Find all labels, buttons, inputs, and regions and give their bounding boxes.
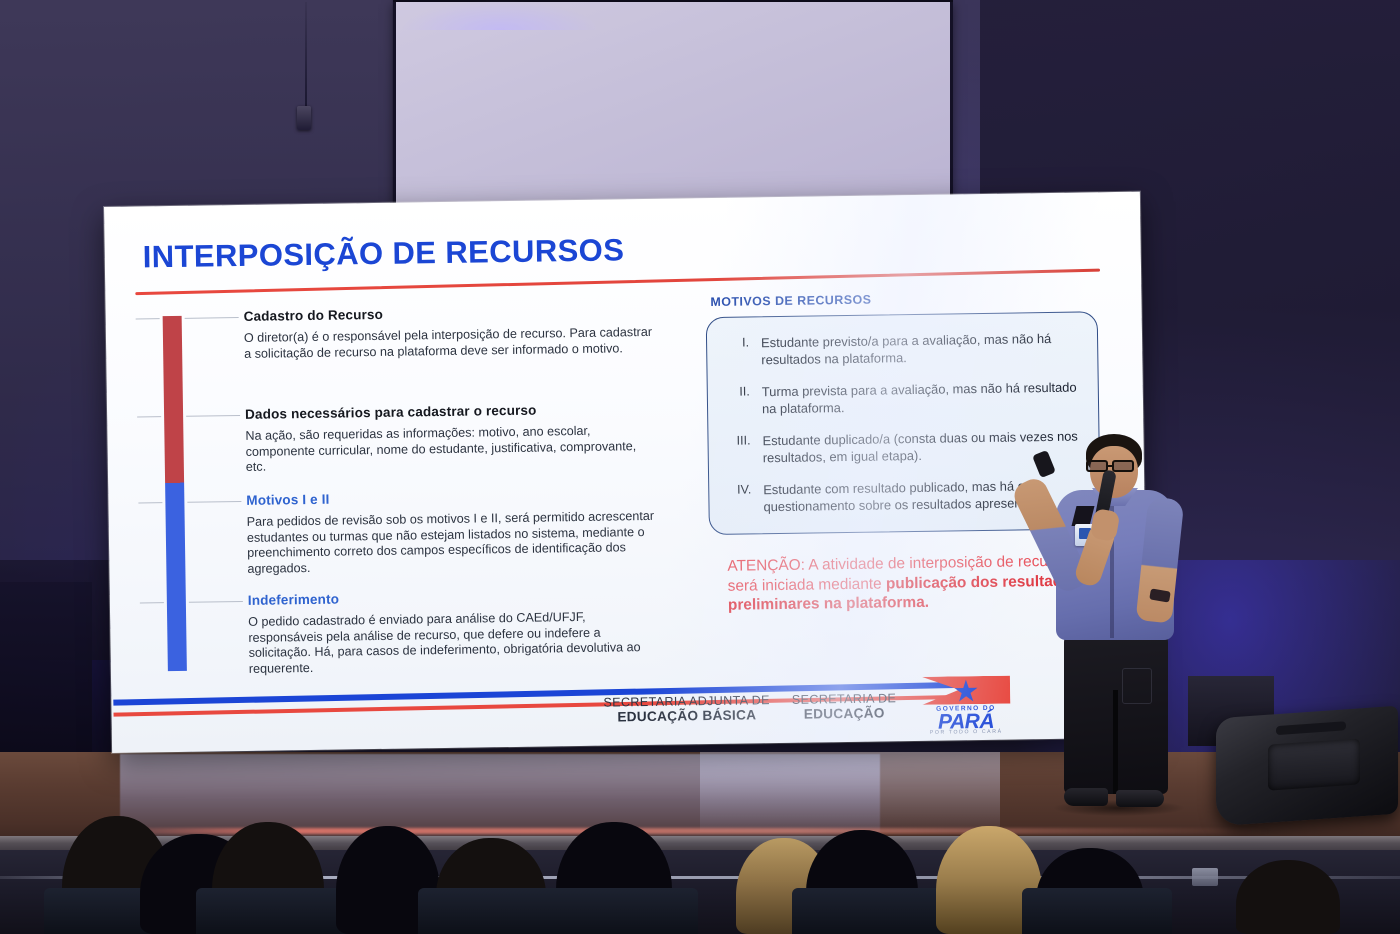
monitor-handle [1276, 721, 1346, 735]
slide-left-column: Cadastro do Recurso O diretor(a) é o res… [136, 309, 656, 317]
presentation-clicker-icon [1032, 450, 1056, 478]
section-heading: Indeferimento [248, 587, 660, 608]
motivo-text: Turma prevista para a avaliação, mas não… [762, 379, 1092, 417]
section-heading: Motivos I e II [246, 487, 658, 508]
presenter-shoe-left [1064, 788, 1108, 806]
presenter-leg-seam [1113, 690, 1118, 794]
slide-section: Motivos I e II Para pedidos de revisão s… [246, 487, 659, 577]
rail-clamp [1192, 868, 1218, 886]
motivo-numeral: III. [722, 433, 762, 467]
slide-right-column: MOTIVOS DE RECURSOS I. Estudante previst… [705, 289, 1105, 295]
motivos-label: MOTIVOS DE RECURSOS [710, 293, 871, 309]
logo-line-2: EDUCAÇÃO BÁSICA [604, 708, 771, 726]
slide-section: Indeferimento O pedido cadastrado é envi… [248, 587, 661, 677]
presentation-board: INTERPOSIÇÃO DE RECURSOS Cadastro do Rec… [104, 192, 1148, 753]
section-heading: Cadastro do Recurso [244, 303, 656, 324]
star-icon: ★ [951, 677, 981, 706]
projection-screen [393, 2, 953, 224]
motivo-item: II. Turma prevista para a avaliação, mas… [722, 379, 1092, 417]
audience-chair [196, 888, 346, 934]
presentation-scene: INTERPOSIÇÃO DE RECURSOS Cadastro do Rec… [0, 0, 1400, 934]
presenter-shoe-right [1116, 790, 1164, 807]
hanging-light-fixture [297, 106, 311, 130]
stage-curtain-left [0, 582, 92, 772]
section-heading: Dados necessários para cadastrar o recur… [245, 401, 657, 422]
governo-do-para-logo: ★ GOVERNO DO PARÁ POR TODO O CARÁ [918, 676, 1014, 735]
slide-section: Cadastro do Recurso O diretor(a) é o res… [244, 303, 657, 362]
audience-chair [792, 888, 942, 934]
motivo-item: I. Estudante previsto/a para a avaliação… [721, 330, 1091, 368]
motivo-numeral: IV. [723, 482, 763, 516]
presenter-pocket [1122, 668, 1152, 704]
presenter [1030, 432, 1220, 822]
section-body: Na ação, são requeridas as informações: … [245, 423, 658, 476]
monitor-grille [1268, 738, 1360, 790]
slide-section: Dados necessários para cadastrar o recur… [245, 401, 658, 476]
audience-chair [540, 888, 698, 934]
motivo-numeral: II. [722, 384, 762, 418]
floor-reflection-right [700, 752, 1000, 832]
logo-secretaria-educacao: SECRETARIA DE EDUCAÇÃO [792, 692, 897, 723]
motivo-text: Estudante previsto/a para a avaliação, m… [761, 330, 1091, 368]
red-blue-timeline-bar [163, 316, 187, 671]
logo-line-2: EDUCAÇÃO [792, 706, 897, 723]
slide-title: INTERPOSIÇÃO DE RECURSOS [142, 232, 624, 275]
glasses-icon [1086, 460, 1142, 472]
hanging-cable [305, 2, 307, 110]
screen-glow [400, 0, 600, 30]
logo-line-1: SECRETARIA DE [792, 692, 897, 708]
logo-secretaria-adjunta: SECRETARIA ADJUNTA DE EDUCAÇÃO BÁSICA [603, 694, 770, 726]
para-tagline: POR TODO O CARÁ [919, 729, 1014, 736]
section-body: O pedido cadastrado é enviado para análi… [248, 609, 661, 677]
section-body: O diretor(a) é o responsável pela interp… [244, 325, 656, 362]
section-body: Para pedidos de revisão sob os motivos I… [247, 509, 660, 577]
motivo-numeral: I. [721, 335, 761, 369]
stage-monitor-speaker [1216, 706, 1398, 827]
audience-chair [1022, 888, 1172, 934]
